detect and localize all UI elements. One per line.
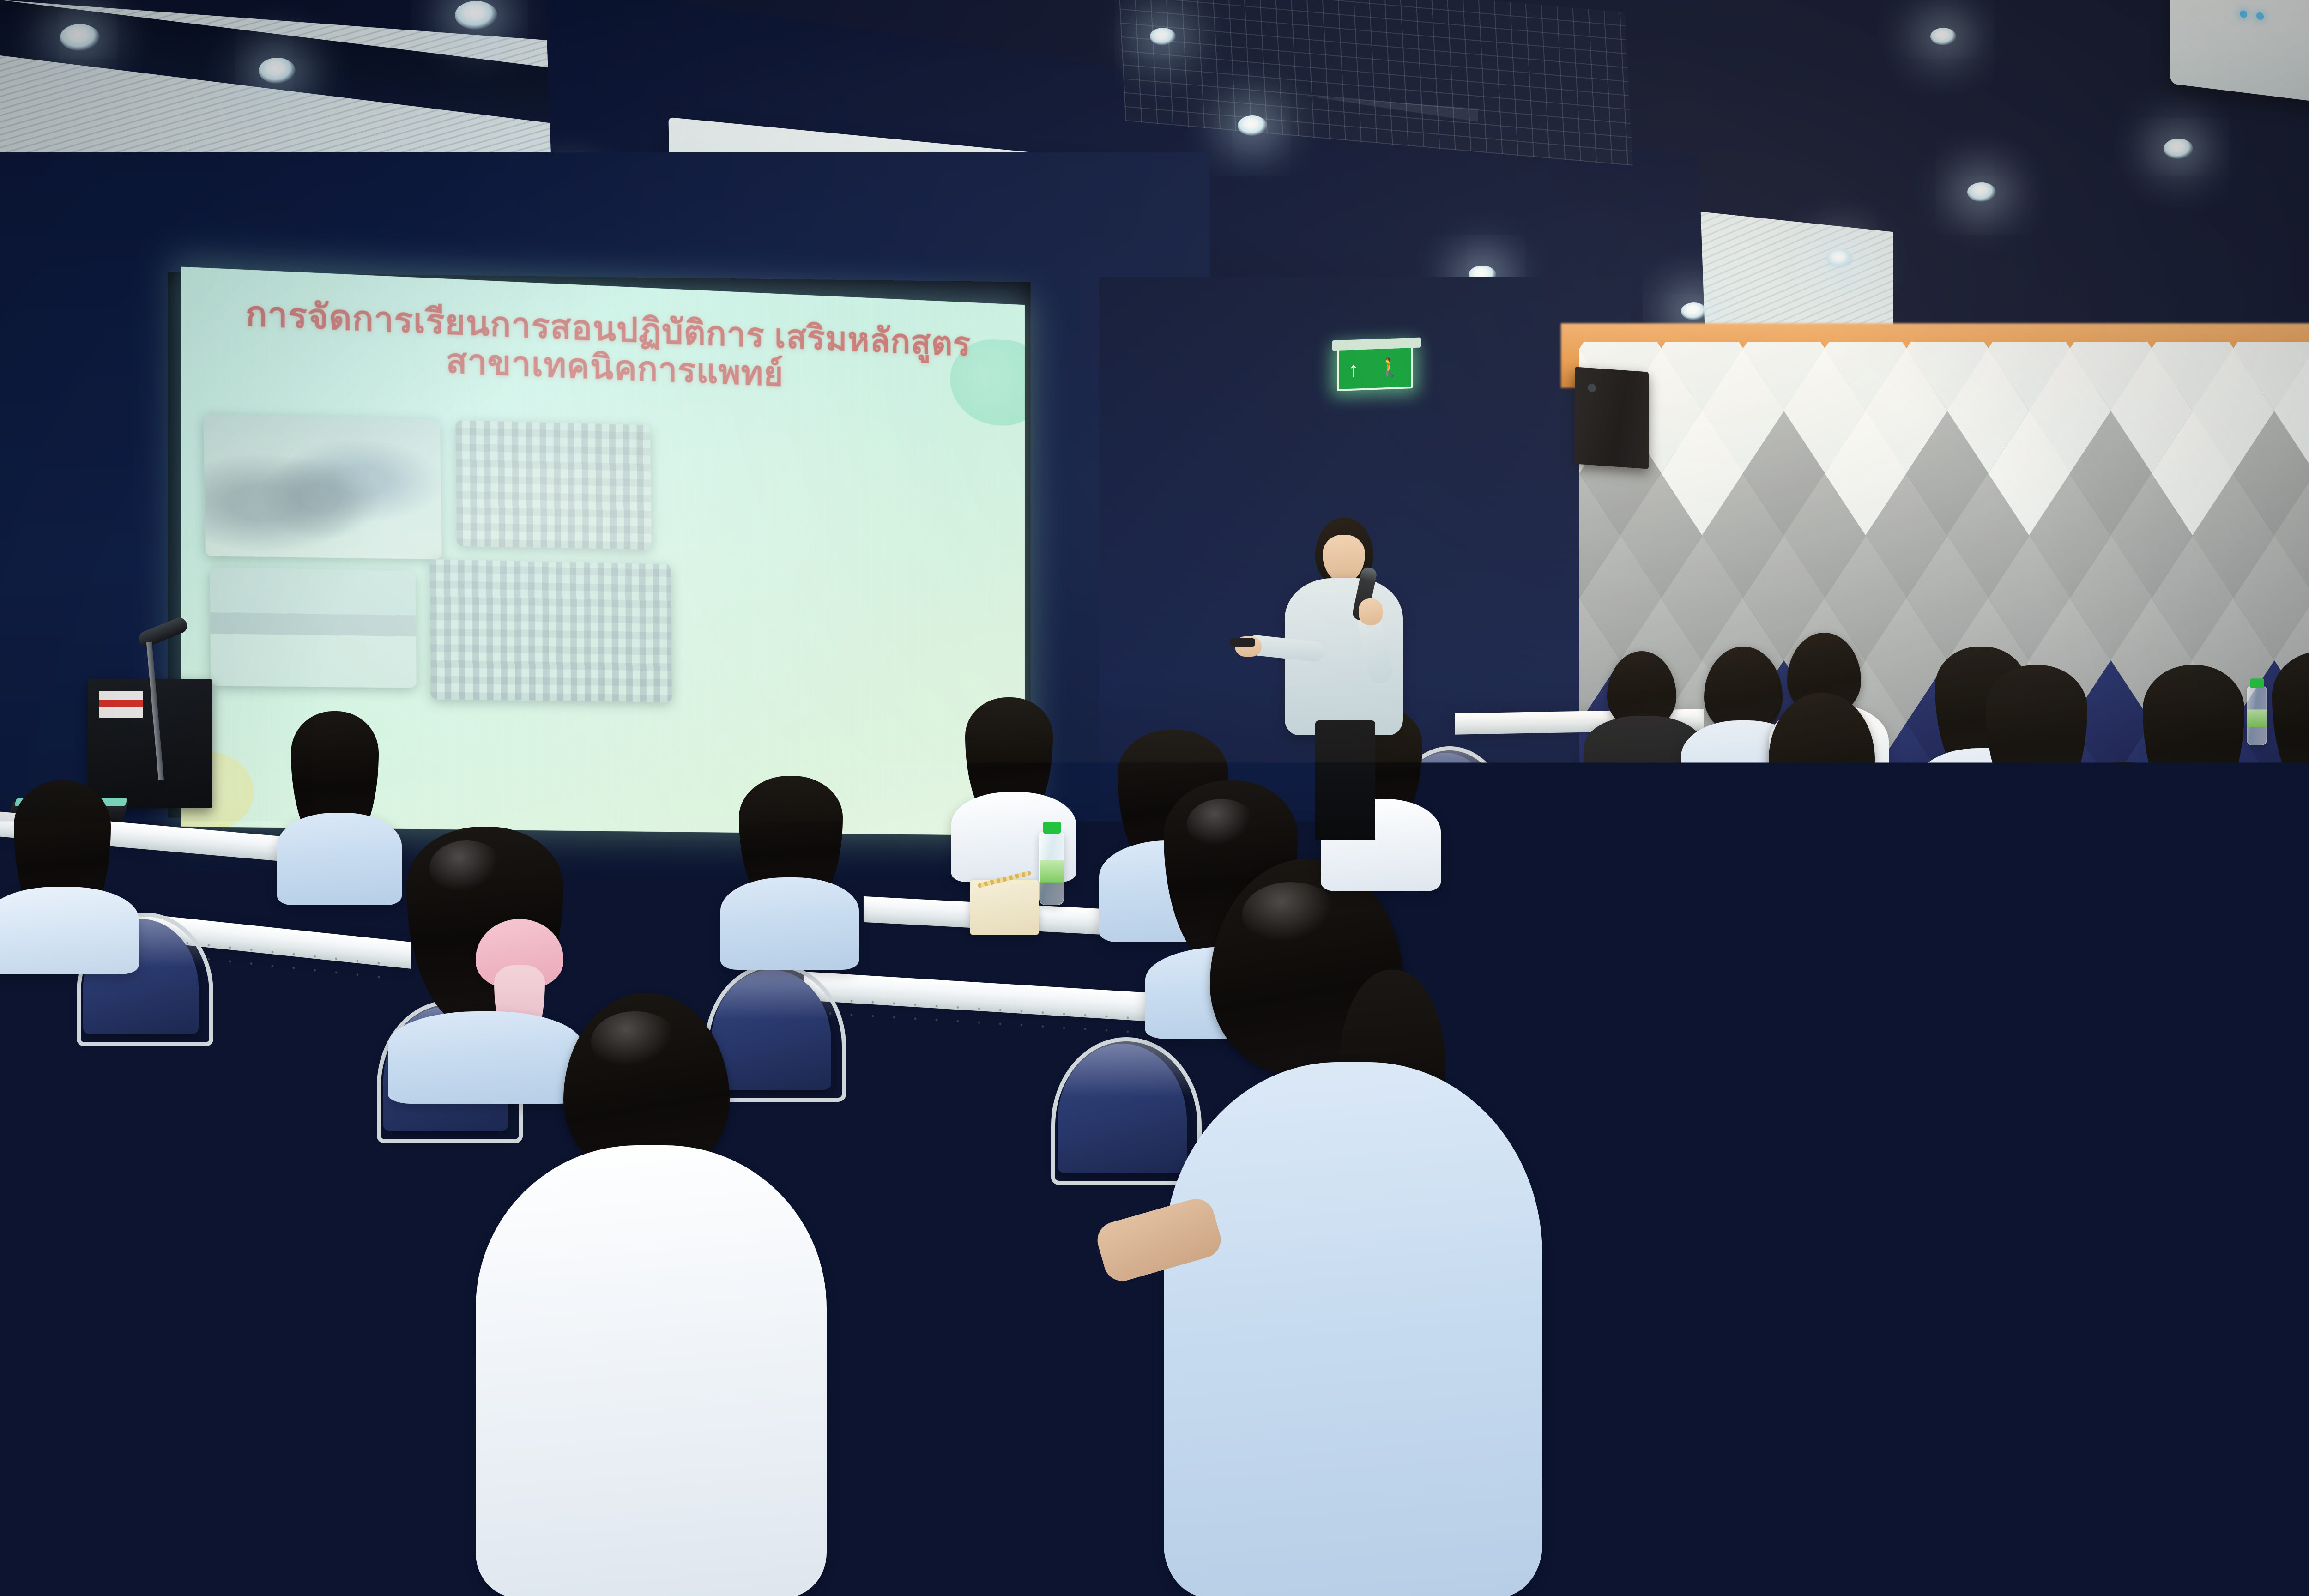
uniform	[1164, 1062, 1542, 1596]
downlight-10	[2164, 139, 2193, 159]
hair-highlight	[1242, 882, 1339, 947]
presenter-skirt	[1315, 720, 1375, 840]
student-foreground-boy	[476, 993, 827, 1596]
downlight-1	[60, 24, 100, 51]
student-left-front	[277, 711, 402, 905]
emergency-exit-sign: ↑ 🚶	[1337, 346, 1413, 391]
bottle-cap	[2250, 678, 2264, 688]
downlight-6	[1238, 115, 1267, 136]
av-rack-label	[99, 691, 143, 718]
handbag-on-table	[970, 880, 1039, 935]
student-center-back-1	[720, 776, 859, 970]
student-center-front-ponytail	[1127, 859, 1589, 1596]
downlight-9	[1967, 182, 1996, 202]
downlight-11	[1681, 302, 1707, 320]
hair-highlight	[429, 840, 503, 896]
water-bottle-on-floor	[44, 1301, 73, 1386]
bottle-cap	[49, 1290, 69, 1304]
table-tag-16: 16	[166, 1052, 195, 1074]
uniform	[720, 877, 859, 970]
slide-photo-students-masks-image	[455, 420, 652, 550]
hair	[2055, 762, 2194, 1002]
projector-led-1	[2240, 10, 2247, 18]
lecture-hall-scene: ↑ 🚶 การจัดการเรียนการสอนปฏิบัติการ เสริม…	[0, 0, 2309, 1596]
bottle-label	[1040, 860, 1064, 883]
hair-highlight	[591, 1011, 679, 1071]
uniform	[277, 813, 402, 905]
table-tag-15: 15	[203, 1272, 232, 1294]
downlight-8	[1826, 249, 1853, 268]
bottle-cap	[1043, 822, 1061, 834]
ceiling-projector	[2170, 0, 2309, 110]
slide-photo-lab-class	[204, 414, 442, 559]
downlight-12	[1150, 28, 1176, 45]
exit-running-man-icon: 🚶	[1378, 358, 1401, 378]
slide-photo-lab-room	[210, 567, 417, 688]
student-right-front-1	[1709, 850, 1912, 1265]
slide-photo-students-masks	[455, 420, 652, 550]
downlight-13	[1930, 28, 1956, 45]
downlight-3	[455, 1, 497, 30]
bottle-label	[45, 1335, 73, 1360]
slide-photo-lab-room-image	[210, 567, 417, 688]
uniform	[1709, 965, 1912, 1265]
presenter	[1275, 517, 1413, 840]
exit-arrow-icon: ↑	[1348, 358, 1359, 380]
hair-highlight	[1187, 799, 1256, 850]
slide-photo-seminar-audience	[429, 559, 672, 702]
bottle-label	[2247, 709, 2267, 727]
hair	[2226, 840, 2309, 1062]
water-bottle-on-table	[1039, 831, 1064, 905]
student-left-back	[0, 780, 139, 974]
presenter-right-hand	[1359, 598, 1383, 625]
projector-led-2	[2256, 12, 2264, 20]
uniform	[0, 887, 139, 974]
uniform	[476, 1145, 827, 1596]
slide-photo-lab-class-image	[204, 414, 442, 559]
table-caster	[134, 1519, 168, 1547]
water-bottle-right	[2247, 686, 2267, 745]
slide-title: การจัดการเรียนการสอนปฏิบัติการ เสริมหลัก…	[206, 292, 1007, 402]
slide-photo-seminar-audience-image	[429, 559, 672, 702]
presentation-clicker	[1230, 638, 1255, 647]
wall-speaker	[1575, 367, 1649, 469]
downlight-2	[259, 58, 296, 84]
